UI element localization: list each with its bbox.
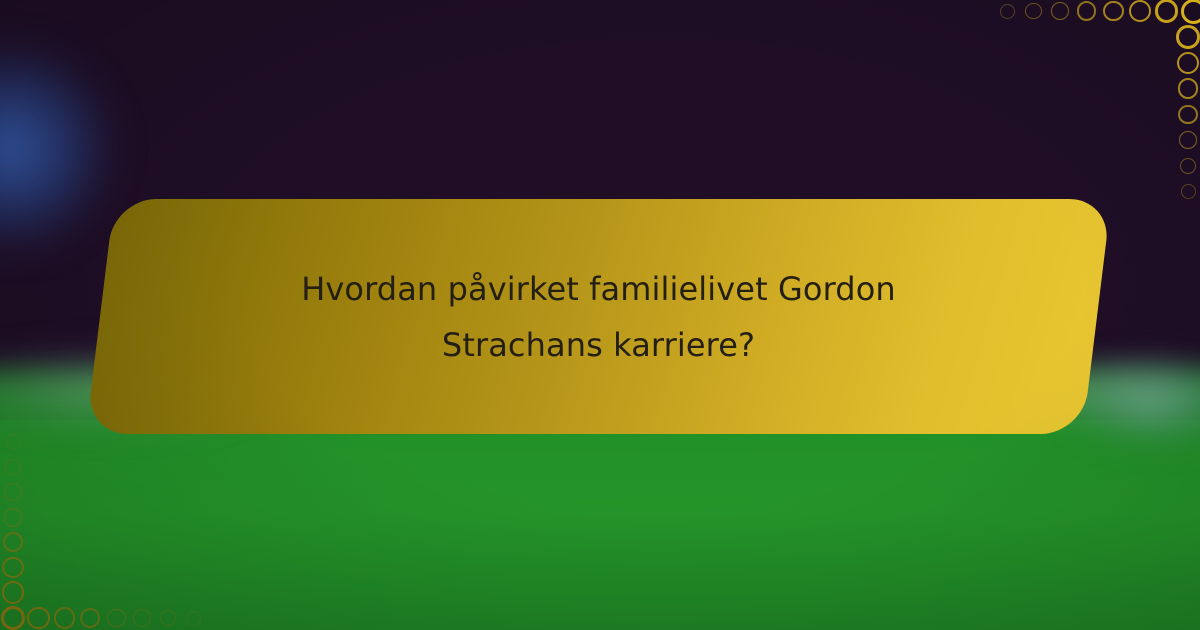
social-card-canvas: Hvordan påvirket familielivet Gordon Str… bbox=[0, 0, 1200, 630]
decorative-circle bbox=[1180, 158, 1196, 174]
decorative-circle bbox=[1077, 1, 1096, 20]
decorative-circle bbox=[1178, 78, 1199, 99]
decorative-circle bbox=[1025, 3, 1041, 19]
decorative-circle bbox=[2, 557, 23, 578]
decorative-circle bbox=[4, 483, 22, 501]
decorative-circle bbox=[160, 610, 176, 626]
question-banner: Hvordan påvirket familielivet Gordon Str… bbox=[100, 199, 1097, 434]
decorative-circle bbox=[1181, 184, 1196, 199]
decorative-circle bbox=[1178, 105, 1197, 124]
question-text: Hvordan påvirket familielivet Gordon Str… bbox=[100, 199, 1097, 434]
decorative-circle bbox=[107, 609, 126, 628]
decorative-circle bbox=[1181, 0, 1200, 24]
decorative-circle bbox=[5, 459, 21, 475]
decorative-circle bbox=[54, 607, 75, 628]
decorative-circle bbox=[1155, 0, 1179, 23]
decorative-circle bbox=[133, 609, 151, 627]
decorative-circle bbox=[1176, 25, 1200, 49]
decorative-circle bbox=[1103, 1, 1124, 22]
decorative-circle bbox=[4, 508, 23, 527]
decorative-circle bbox=[6, 434, 21, 449]
decorative-circle bbox=[1179, 131, 1197, 149]
decorative-circle bbox=[1051, 2, 1069, 20]
decorative-circle bbox=[1000, 4, 1015, 19]
decorative-circle bbox=[1177, 52, 1199, 74]
decorative-circle bbox=[1, 606, 25, 630]
background-green-solid-layer bbox=[0, 420, 1200, 630]
decorative-circle bbox=[186, 611, 201, 626]
decorative-circle bbox=[1129, 0, 1151, 22]
